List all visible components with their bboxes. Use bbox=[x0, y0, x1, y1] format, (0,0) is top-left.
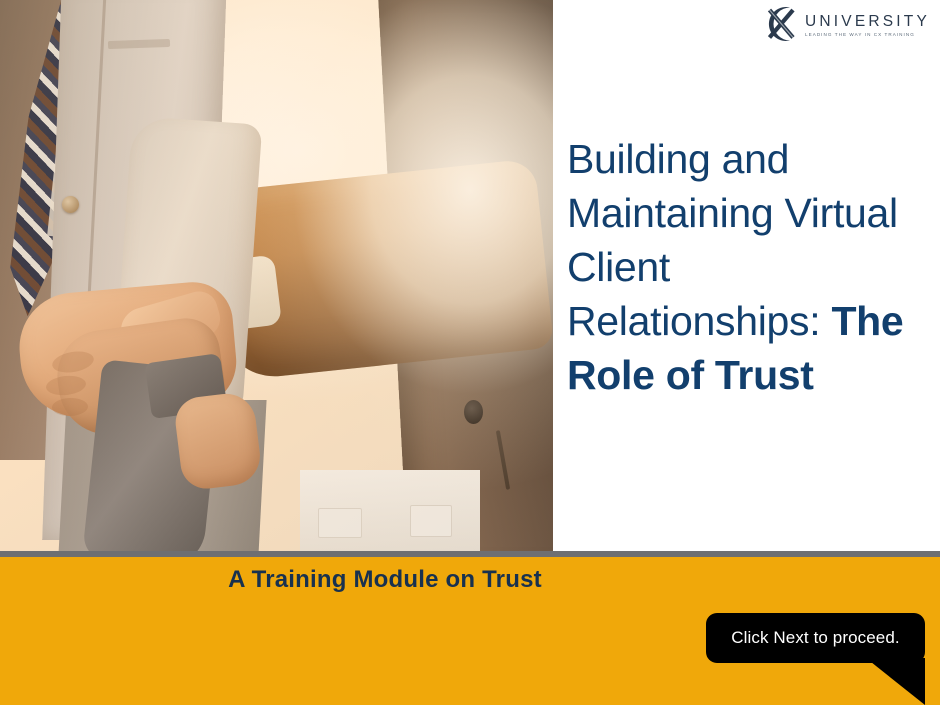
wall-switch-left bbox=[318, 508, 362, 538]
callout-label: Click Next to proceed. bbox=[731, 628, 900, 648]
click-next-callout: Click Next to proceed. bbox=[706, 613, 925, 663]
logo-name: UNIVERSITY bbox=[805, 14, 930, 30]
logo-tagline: LEADING THE WAY IN CX TRAINING bbox=[805, 33, 930, 38]
lower-fingers bbox=[173, 390, 264, 491]
page-title: Building and Maintaining Virtual Client … bbox=[567, 132, 927, 402]
title-slide: UNIVERSITY LEADING THE WAY IN CX TRAININ… bbox=[0, 0, 940, 705]
xc-monogram-icon bbox=[759, 3, 803, 50]
cx-university-logo: UNIVERSITY LEADING THE WAY IN CX TRAININ… bbox=[759, 4, 930, 48]
business-handshake-photo bbox=[0, 0, 553, 552]
subtitle-text: A Training Module on Trust bbox=[0, 566, 940, 594]
logo-wordmark: UNIVERSITY LEADING THE WAY IN CX TRAININ… bbox=[805, 14, 930, 37]
jacket-button-right-bottom bbox=[464, 400, 483, 424]
wall-switch-right bbox=[410, 505, 452, 537]
jacket-button-left bbox=[62, 196, 79, 213]
